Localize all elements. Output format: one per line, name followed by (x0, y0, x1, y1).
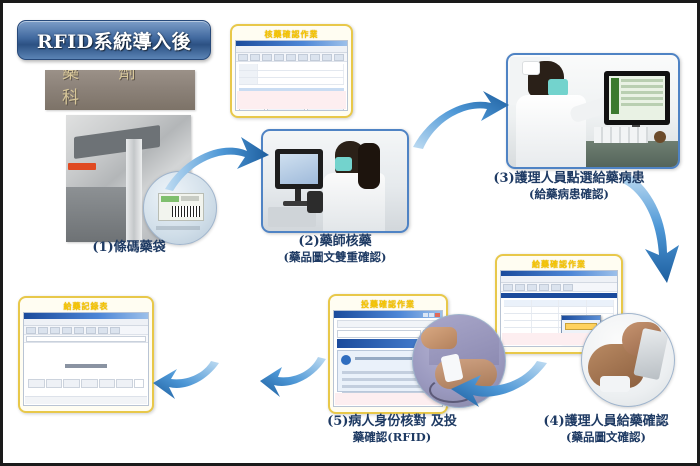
panel-record-header: 給藥記錄表 (23, 301, 149, 312)
report-title-line (65, 364, 107, 368)
medicine-cart (586, 141, 678, 167)
arrow-into-record-panel (151, 361, 221, 401)
page-title-text: RFID系統導入後 (37, 27, 191, 54)
diagram-canvas: RFID系統導入後 藥 劑 科 PHARMACY 核藥確認作業 (0, 0, 700, 466)
caption-step-1: (1)條碼藥袋 (59, 240, 199, 256)
minimize-icon[interactable] (423, 313, 428, 317)
device-buttons (600, 376, 630, 392)
arrow-step1-to-step2 (163, 135, 273, 195)
window-toolbar[interactable] (236, 53, 347, 62)
machine-bag-strip (126, 139, 142, 242)
arrow-step2-to-step3 (411, 91, 511, 151)
pharmacy-sign-cn: 藥 劑 科 (45, 70, 195, 108)
face-mask-icon (548, 79, 568, 96)
caption-step-2: (2)藥師核藥 (藥品圖文雙重確認) (261, 234, 409, 265)
window-toolbar[interactable] (501, 283, 617, 292)
caption-step-4: (4)護理人員給藥確認 (藥品圖文確認) (516, 414, 696, 445)
caption-step-4-main: (4)護理人員給藥確認 (516, 414, 696, 430)
machine-label-red (68, 163, 96, 170)
barcode-label (158, 193, 204, 221)
photo-pharmacist (261, 129, 409, 233)
caption-step-2-main: (2)藥師核藥 (261, 234, 409, 250)
caption-step-3-sub: (給藥病患確認) (469, 187, 669, 201)
panel-record[interactable]: 給藥記錄表 (18, 296, 154, 413)
medicine-cups (594, 127, 648, 143)
panel-dispense-header: 給藥確認作業 (500, 259, 618, 270)
caption-step-4-sub: (藥品圖文確認) (516, 430, 696, 444)
info-icon (341, 355, 351, 365)
panel-check-med[interactable]: 核藥確認作業 (230, 24, 353, 118)
caption-step-3-main: (3)護理人員點選給藥病患 (469, 171, 669, 187)
caption-step-2-sub: (藥品圖文雙重確認) (261, 250, 409, 264)
caption-step-5: (5)病人身份核對 及投 藥確認(RFID) (303, 414, 481, 445)
barcode-scanner (307, 191, 323, 213)
caption-step-3: (3)護理人員點選給藥病患 (給藥病患確認) (469, 171, 669, 202)
monitor-bezel (275, 149, 323, 189)
face-mask-icon (335, 157, 352, 171)
arrow-step4-to-step5 (449, 361, 549, 409)
pharmacist-long-hair (358, 143, 380, 189)
nurse-cap (522, 61, 540, 75)
caption-step-1-main: (1)條碼藥袋 (59, 240, 199, 256)
photo-nurse-select-patient (506, 53, 680, 169)
caption-step-5-sub: 藥確認(RFID) (303, 430, 481, 444)
panel-record-body (23, 312, 149, 406)
panel-check-med-body (235, 40, 348, 111)
machine-slot (74, 125, 160, 159)
page-title: RFID系統導入後 (17, 20, 211, 60)
window-menubar (501, 276, 617, 283)
arrow-step5-to-record (258, 355, 328, 399)
panel-administer-header: 投藥確認作業 (333, 299, 443, 310)
monitor-bezel (604, 71, 670, 125)
window-toolbar[interactable] (24, 326, 148, 335)
photo-nurse-dispense-confirm (581, 313, 675, 407)
caption-step-5-main: (5)病人身份核對 及投 (303, 414, 481, 430)
nurse-hand (421, 327, 457, 349)
panel-check-med-header: 核藥確認作業 (235, 29, 348, 40)
window-menubar (24, 319, 148, 326)
pharmacy-sign-en: PHARMACY (69, 108, 170, 110)
pharmacy-sign-art: 藥 劑 科 PHARMACY (45, 70, 195, 110)
window-titlebar (334, 311, 442, 318)
photo-pharmacy-sign: 藥 劑 科 PHARMACY (45, 70, 195, 110)
window-menubar (236, 46, 347, 53)
